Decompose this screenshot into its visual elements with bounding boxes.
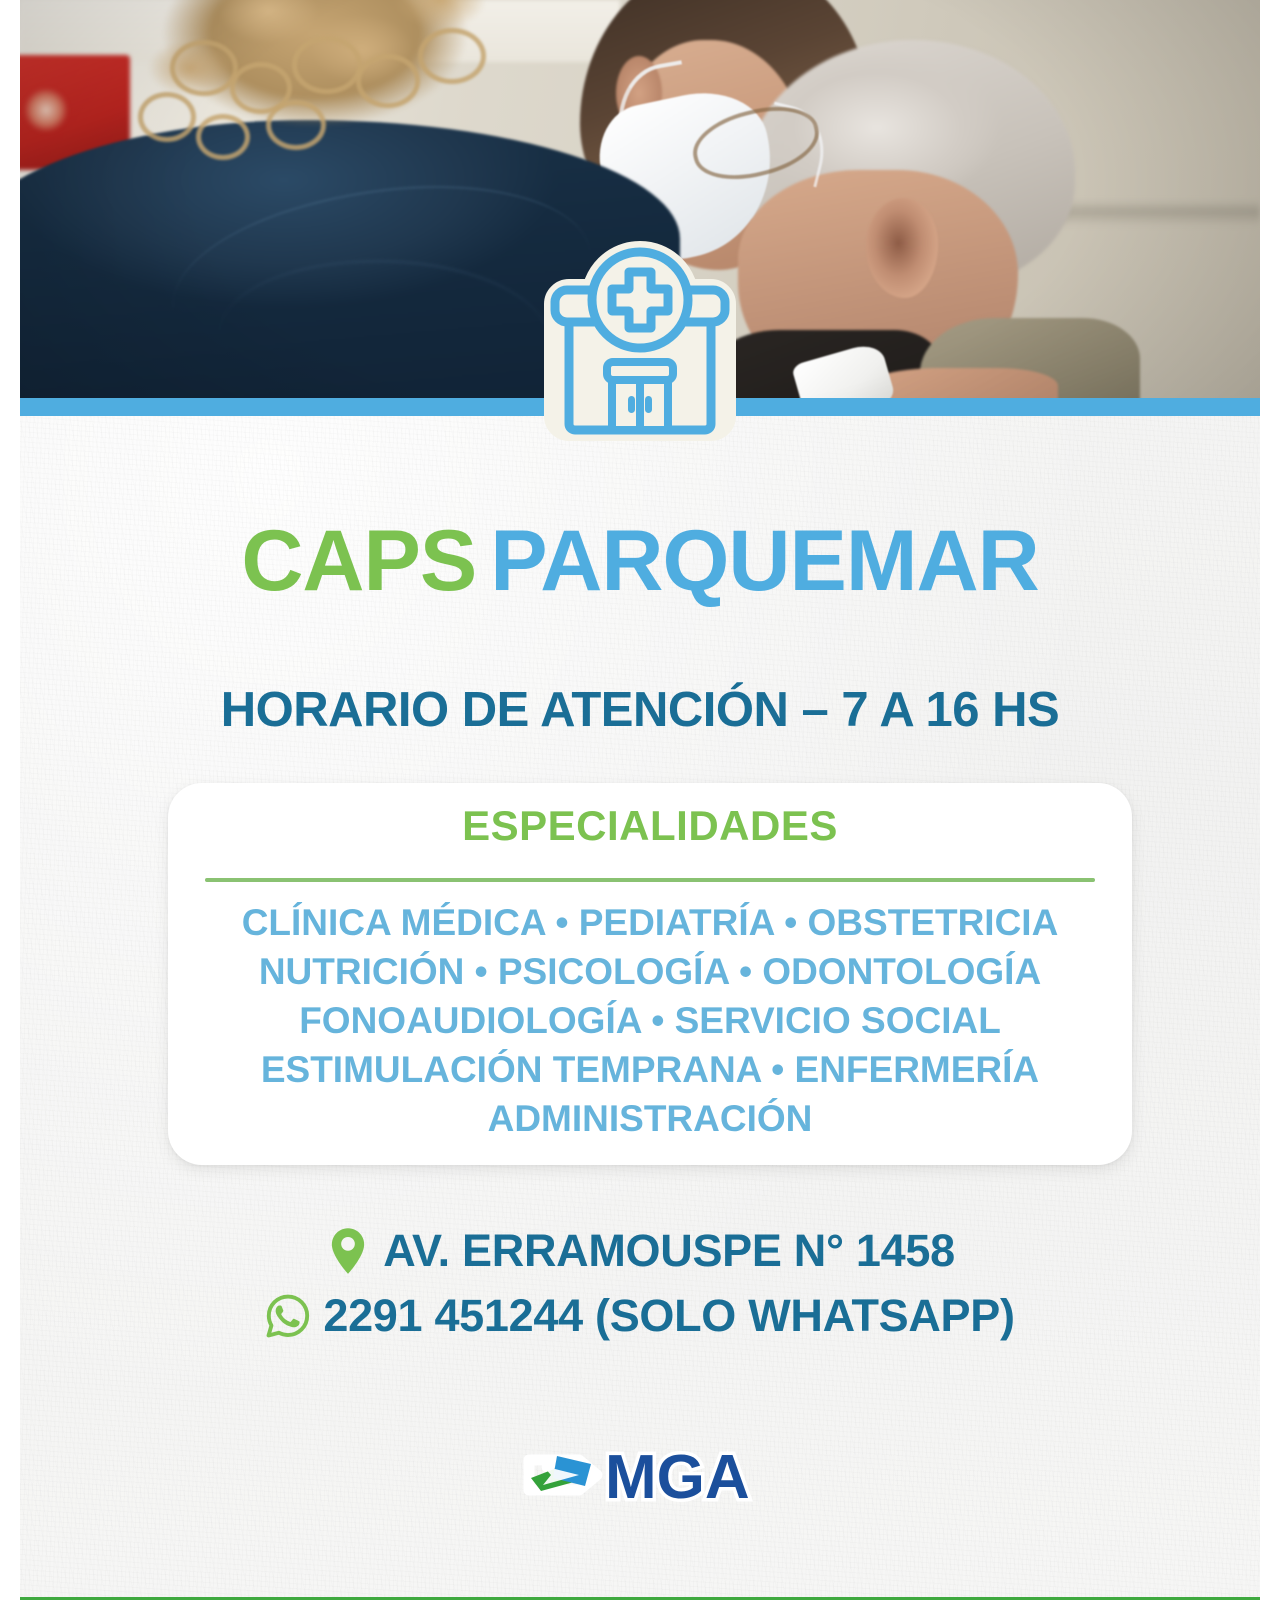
mga-wordmark: MGA <box>605 1443 750 1512</box>
mga-logo: MGA <box>517 1434 763 1516</box>
address-row: AV. ERRAMOUSPE N° 1458 <box>20 1224 1260 1278</box>
specialties-heading: ESPECIALIDADES <box>168 802 1132 850</box>
specialties-line: ESTIMULACIÓN TEMPRANA • ENFERMERÍA <box>168 1045 1132 1094</box>
location-pin-icon <box>325 1224 371 1278</box>
phone-row: 2291 451244 (SOLO WHATSAPP) <box>20 1289 1260 1343</box>
phone-text: 2291 451244 (SOLO WHATSAPP) <box>323 1290 1014 1342</box>
title-caps: CAPS <box>241 513 476 609</box>
whatsapp-icon <box>265 1289 311 1343</box>
poster-canvas: CAPSPARQUEMAR HORARIO DE ATENCIÓN – 7 A … <box>20 0 1260 1600</box>
specialties-line: CLÍNICA MÉDICA • PEDIATRÍA • OBSTETRICIA <box>168 898 1132 947</box>
specialties-list: CLÍNICA MÉDICA • PEDIATRÍA • OBSTETRICIA… <box>168 898 1132 1143</box>
page-title: CAPSPARQUEMAR <box>20 518 1260 604</box>
specialties-line: FONOAUDIOLOGÍA • SERVICIO SOCIAL <box>168 996 1132 1045</box>
contact-block: AV. ERRAMOUSPE N° 1458 2291 451244 (SOLO… <box>20 1224 1260 1343</box>
address-text: AV. ERRAMOUSPE N° 1458 <box>383 1225 955 1277</box>
specialties-line: ADMINISTRACIÓN <box>168 1094 1132 1143</box>
specialties-divider <box>205 878 1095 882</box>
specialties-card: ESPECIALIDADES CLÍNICA MÉDICA • PEDIATRÍ… <box>168 783 1132 1165</box>
schedule-text: HORARIO DE ATENCIÓN – 7 A 16 HS <box>20 682 1260 738</box>
health-center-building-icon <box>533 238 747 448</box>
title-parquemar: PARQUEMAR <box>490 513 1038 609</box>
specialties-line: NUTRICIÓN • PSICOLOGÍA • ODONTOLOGÍA <box>168 947 1132 996</box>
